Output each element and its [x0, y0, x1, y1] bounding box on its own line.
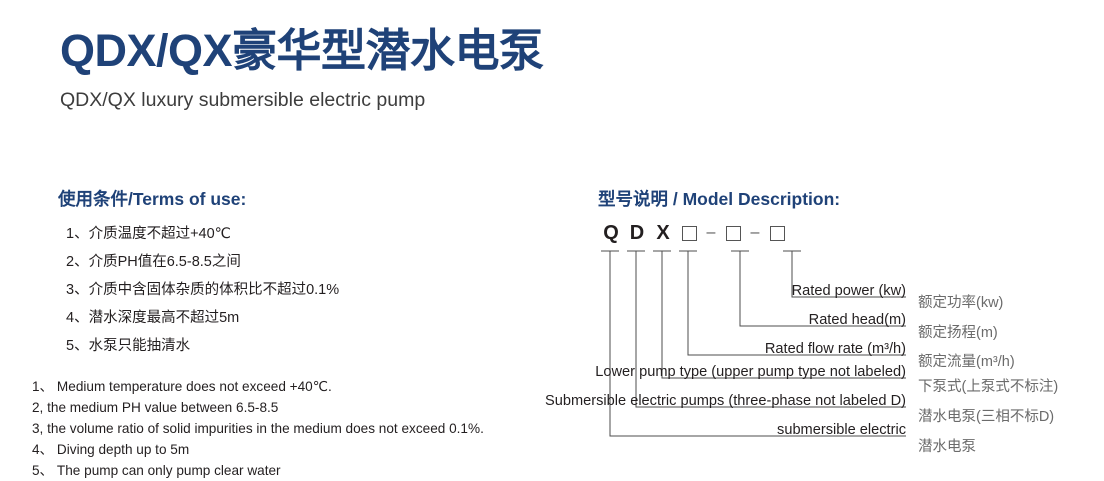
- leader-label-cn: 潜水电泵: [918, 435, 976, 456]
- list-item: 4、潜水深度最高不超过5m: [66, 304, 339, 332]
- model-code-char: Q: [598, 222, 624, 245]
- list-item: 4、 Diving depth up to 5m: [32, 439, 484, 460]
- list-item: 3、介质中含固体杂质的体积比不超过0.1%: [66, 276, 339, 304]
- terms-english-list: 1、 Medium temperature does not exceed +4…: [32, 376, 484, 481]
- list-item: 5、水泵只能抽清水: [66, 332, 339, 360]
- leader-label-en: Rated power (kw): [792, 283, 906, 299]
- list-item: 2, the medium PH value between 6.5-8.5: [32, 397, 484, 418]
- leader-label-en: Rated head(m): [809, 312, 906, 328]
- model-code-placeholder-box: [676, 226, 702, 241]
- model-code-dash: –: [702, 225, 720, 241]
- page-title: QDX/QX豪华型潜水电泵: [60, 28, 544, 73]
- model-code-placeholder-box: [720, 226, 746, 241]
- title-block: QDX/QX豪华型潜水电泵 QDX/QX luxury submersible …: [60, 28, 544, 112]
- leader-label-cn: 额定扬程(m): [918, 321, 998, 342]
- list-item: 5、 The pump can only pump clear water: [32, 460, 484, 481]
- page-subtitle: QDX/QX luxury submersible electric pump: [60, 89, 544, 112]
- list-item: 3, the volume ratio of solid impurities …: [32, 418, 484, 439]
- model-code-dash: –: [746, 225, 764, 241]
- terms-chinese-list: 1、介质温度不超过+40℃ 2、介质PH值在6.5-8.5之间 3、介质中含固体…: [66, 220, 339, 360]
- list-item: 2、介质PH值在6.5-8.5之间: [66, 248, 339, 276]
- leader-label-cn: 额定功率(kw): [918, 291, 1003, 312]
- list-item: 1、介质温度不超过+40℃: [66, 220, 339, 248]
- leader-label-en: Lower pump type (upper pump type not lab…: [595, 364, 906, 380]
- terms-of-use-heading: 使用条件/Terms of use:: [58, 186, 246, 211]
- model-code-char: D: [624, 222, 650, 245]
- leader-label-en: Rated flow rate (m³/h): [765, 341, 906, 357]
- model-code-placeholder-box: [764, 226, 790, 241]
- leader-label-en: submersible electric: [777, 422, 906, 438]
- leader-label-en: Submersible electric pumps (three-phase …: [545, 393, 906, 409]
- leader-label-cn: 额定流量(m³/h): [918, 350, 1015, 371]
- model-code-char: X: [650, 222, 676, 245]
- leader-label-cn: 潜水电泵(三相不标D): [918, 405, 1054, 426]
- list-item: 1、 Medium temperature does not exceed +4…: [32, 376, 484, 397]
- model-description-heading: 型号说明 / Model Description:: [598, 186, 840, 211]
- model-code-row: Q D X – –: [598, 220, 790, 246]
- leader-label-cn: 下泵式(上泵式不标注): [918, 375, 1058, 396]
